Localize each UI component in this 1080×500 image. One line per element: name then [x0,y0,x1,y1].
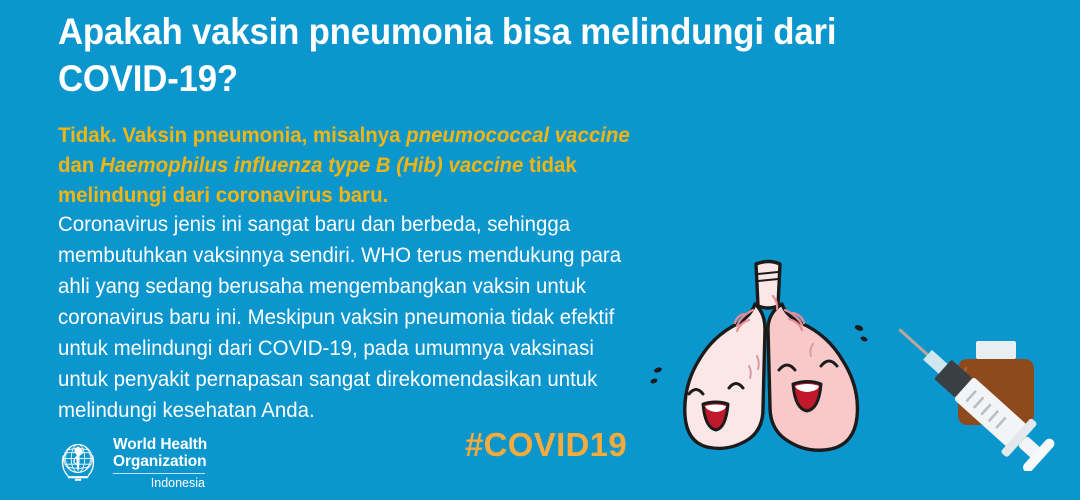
smiling-lungs-icon [645,248,895,463]
body-paragraph: Coronavirus jenis ini sangat baru dan be… [58,209,628,426]
lead-text-part-2: dan [58,153,100,177]
lead-vaccine-name-hib: Haemophilus influenza type B (Hib) vacci… [100,153,523,177]
lead-text-part-1: Tidak. Vaksin pneumonia, misalnya [58,123,406,147]
who-logo: World Health Organization Indonesia [52,434,207,490]
covid-infographic-poster: Apakah vaksin pneumonia bisa melindungi … [0,0,1080,500]
who-wordmark: World Health Organization Indonesia [113,434,207,490]
who-emblem-icon [52,434,104,486]
syringe-and-medicine-bottle-icon [880,296,1070,471]
who-divider [113,473,205,474]
lead-paragraph: Tidak. Vaksin pneumonia, misalnya pneumo… [58,120,666,210]
who-country-label: Indonesia [113,476,205,490]
who-organization-name: World Health Organization [113,436,207,470]
lead-vaccine-name-pneumococcal: pneumococcal vaccine [406,123,630,147]
hashtag-covid19: #COVID19 [465,427,627,463]
page-title: Apakah vaksin pneumonia bisa melindungi … [58,8,923,102]
